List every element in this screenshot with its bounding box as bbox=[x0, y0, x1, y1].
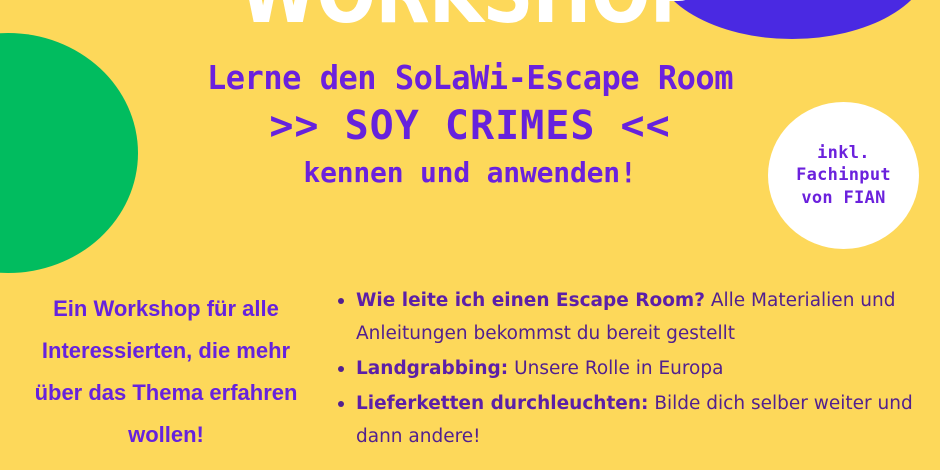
lower-content: Ein Workshop für alle Interessierten, di… bbox=[0, 278, 940, 470]
list-item-title: Wie leite ich einen Escape Room? bbox=[356, 290, 705, 311]
list-item: Wie leite ich einen Escape Room? Alle Ma… bbox=[336, 284, 928, 350]
fachinput-badge-label: inkl. Fachinput von FIAN bbox=[796, 142, 891, 209]
list-item: Landgrabbing: Unsere Rolle in Europa bbox=[336, 352, 928, 385]
headline-line-1: Lerne den SoLaWi-Escape Room bbox=[14, 56, 926, 100]
list-item-title: Landgrabbing: bbox=[356, 358, 508, 379]
audience-blurb: Ein Workshop für alle Interessierten, di… bbox=[0, 278, 330, 456]
topics-list: Wie leite ich einen Escape Room? Alle Ma… bbox=[330, 278, 940, 455]
list-item-detail: Unsere Rolle in Europa bbox=[508, 358, 723, 379]
list-item-title: Lieferketten durchleuchten: bbox=[356, 393, 648, 414]
list-item: Lieferketten durchleuchten: Bilde dich s… bbox=[336, 387, 928, 453]
fachinput-badge: inkl. Fachinput von FIAN bbox=[768, 102, 919, 249]
poster-canvas: WORKSHOP Lerne den SoLaWi-Escape Room >>… bbox=[0, 0, 940, 470]
poster-title: WORKSHOP bbox=[66, 0, 874, 36]
